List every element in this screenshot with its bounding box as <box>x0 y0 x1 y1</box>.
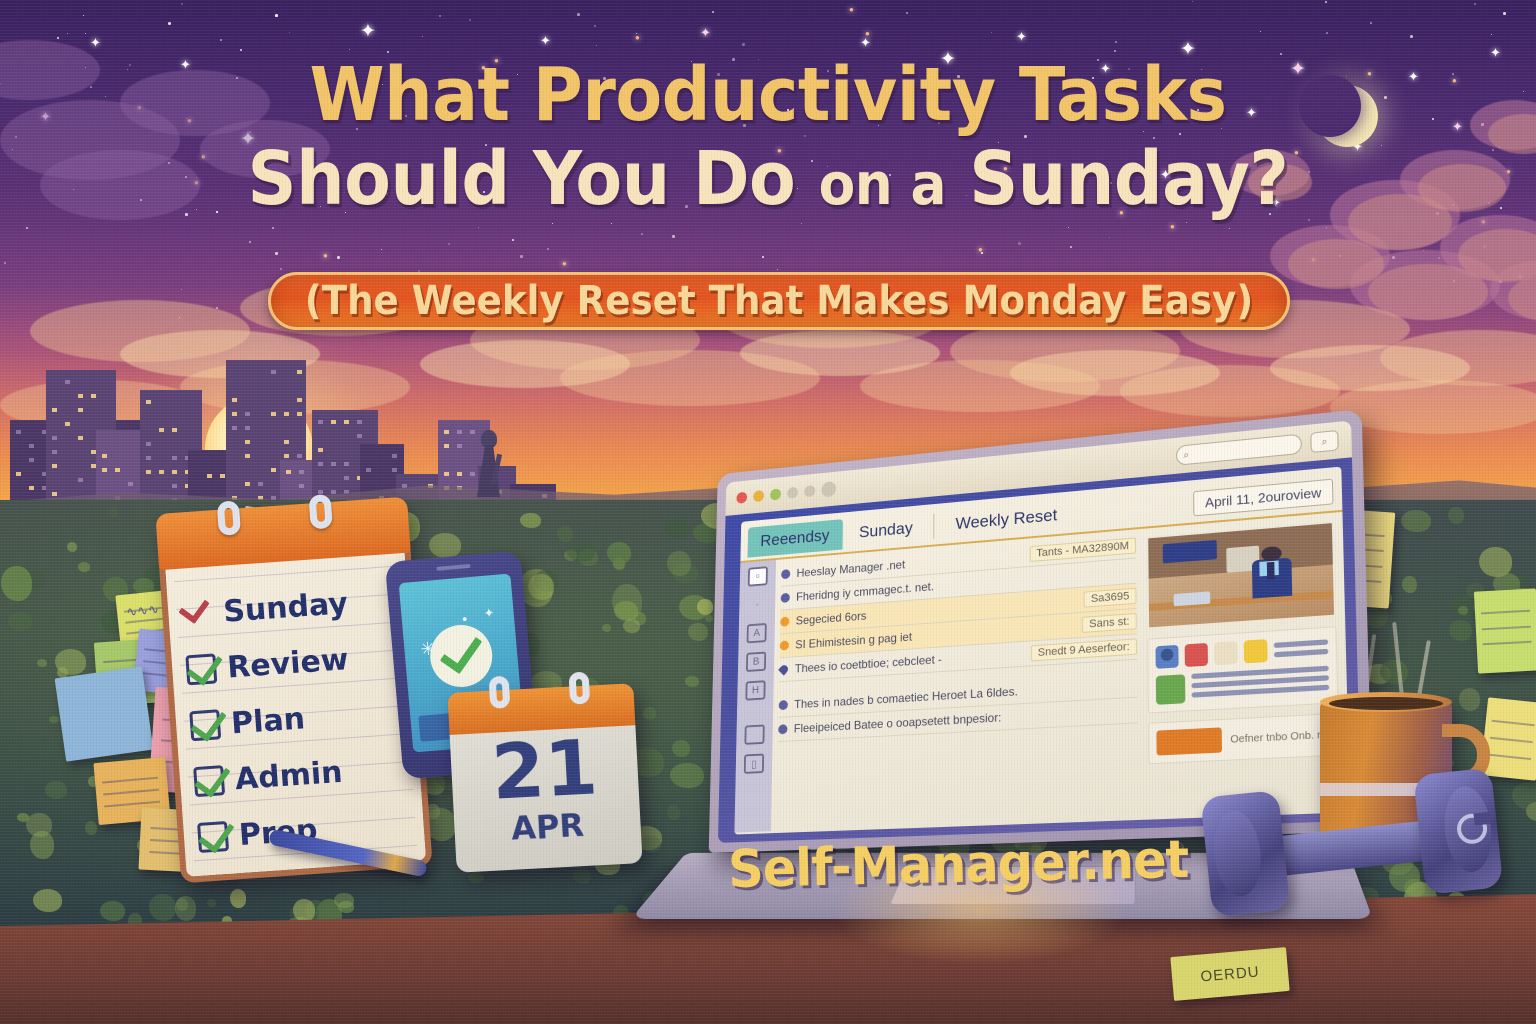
sidebar-icon-a[interactable]: A <box>747 623 767 643</box>
cloud <box>1270 345 1470 391</box>
tab-0[interactable]: Reeendsy <box>748 519 843 557</box>
foliage-leaf <box>100 901 125 921</box>
detail-text-lines-1 <box>1274 639 1329 657</box>
window-light <box>457 472 462 476</box>
star <box>275 252 278 255</box>
star <box>83 15 84 16</box>
ember-dot: ● <box>635 34 640 42</box>
star <box>801 223 802 224</box>
tab-1[interactable]: Sunday <box>846 512 926 550</box>
sparkle-icon-2: ✦ <box>483 605 495 622</box>
window-light <box>220 474 225 478</box>
window-light <box>146 400 151 404</box>
swatch-red <box>1185 643 1208 667</box>
foliage-leaf <box>109 507 118 517</box>
star <box>280 268 282 270</box>
window-light <box>52 450 57 454</box>
title-line-2-part-c: Sunday? <box>969 136 1288 222</box>
window-light <box>207 474 212 478</box>
ember-dot: ● <box>562 260 567 268</box>
window-light <box>318 420 323 424</box>
star <box>1068 227 1069 228</box>
window-light <box>245 426 250 430</box>
foliage-leaf <box>1380 660 1408 684</box>
brand-wordmark: Self-Manager.net <box>728 830 1189 900</box>
window-light <box>284 412 289 416</box>
star <box>422 36 423 37</box>
foliage-leaf <box>607 542 631 564</box>
foliage-leaf <box>207 899 216 907</box>
foliage-leaf <box>85 821 97 835</box>
window-light <box>331 420 336 424</box>
star <box>552 223 553 224</box>
cta-caption: Oefner tnbo Onb. r r <box>1230 727 1327 748</box>
foliage-leaf <box>1 566 32 601</box>
foliage-leaf <box>468 872 484 883</box>
window-light <box>232 398 237 402</box>
window-light <box>258 482 263 486</box>
star <box>1491 34 1492 35</box>
star <box>1070 246 1072 248</box>
window-light <box>284 454 289 458</box>
foliage-leaf <box>175 896 196 921</box>
window-light <box>457 430 462 434</box>
window-light <box>331 462 336 466</box>
window-light <box>331 490 336 494</box>
window-light <box>146 470 151 474</box>
cta-panel: Oefner tnbo Onb. r r <box>1148 713 1340 764</box>
list-item-text: Heeslay Manager .net <box>796 558 905 580</box>
star-sparkle-icon: ✦ <box>90 36 101 49</box>
clipboard-ring-right <box>308 494 332 529</box>
window-light <box>297 454 302 458</box>
foliage-leaf <box>623 619 640 633</box>
checklist-item-label: Admin <box>234 754 344 796</box>
window-light <box>366 468 371 472</box>
ember-dot: ● <box>865 30 870 38</box>
window-light <box>65 380 70 384</box>
window-light <box>78 408 83 412</box>
star <box>547 248 549 250</box>
star <box>762 256 764 258</box>
window-light <box>159 470 164 474</box>
thumb-person-tie <box>1267 561 1275 580</box>
window-light <box>29 444 34 448</box>
window-light <box>286 470 291 474</box>
star <box>1115 41 1117 43</box>
star <box>1186 222 1187 223</box>
window-light <box>29 486 34 490</box>
subtitle-text: (The Weekly Reset That Makes Monday Easy… <box>305 278 1254 324</box>
list-item-tag: Sans st: <box>1082 613 1137 633</box>
star <box>1325 1 1327 3</box>
window-light <box>457 444 462 448</box>
star <box>777 269 778 270</box>
window-light <box>52 408 57 412</box>
window-light <box>172 428 177 432</box>
extra-dot-1 <box>787 487 798 499</box>
star <box>596 45 597 46</box>
detail-card <box>1147 626 1338 713</box>
foliage-leaf <box>1449 620 1472 641</box>
star <box>4 262 6 264</box>
search-icon: ⌕ <box>1183 449 1189 461</box>
cloud <box>1288 239 1384 289</box>
star <box>577 13 580 16</box>
window-light <box>102 468 107 472</box>
star <box>381 249 382 250</box>
swatch-yellow <box>1244 639 1268 663</box>
star <box>1229 228 1230 229</box>
calendar-ring-left <box>489 676 511 709</box>
bullet-icon <box>779 700 788 710</box>
cta-button[interactable] <box>1156 727 1222 755</box>
calendar-ring-right <box>569 672 591 705</box>
window-light <box>245 482 250 486</box>
extra-dot-2 <box>804 485 815 497</box>
window-light <box>357 420 362 424</box>
omnibox-group: ⌕ ⌕ <box>1176 430 1339 466</box>
star <box>439 15 441 17</box>
foliage-leaf <box>1458 606 1468 615</box>
star <box>906 12 908 14</box>
window-light <box>392 468 397 472</box>
window-light <box>16 430 21 434</box>
foliage-leaf <box>293 899 315 922</box>
foliage-leaf <box>567 542 595 562</box>
window-light <box>299 484 304 488</box>
sidebar-icon-page[interactable]: ▯ <box>744 754 764 774</box>
window-light <box>318 462 323 466</box>
star <box>672 235 675 238</box>
title-line-1: What Productivity Tasks <box>61 58 1474 132</box>
checklist-item-label: Sunday <box>222 586 349 630</box>
foliage-leaf <box>67 542 77 552</box>
title-line-2: Should You Do on a Sunday? <box>61 142 1474 216</box>
close-window-button[interactable] <box>736 492 747 504</box>
star <box>1410 35 1413 38</box>
subtitle-banner: (The Weekly Reset That Makes Monday Easy… <box>268 272 1290 330</box>
foliage-leaf <box>1401 510 1431 532</box>
preview-thumbnail[interactable] <box>1146 521 1336 630</box>
window-light <box>115 468 120 472</box>
star <box>168 22 171 25</box>
window-light <box>357 434 362 438</box>
window-light <box>271 370 276 374</box>
star-sparkle-icon: ✦ <box>1016 30 1027 43</box>
sticky-note <box>55 666 154 761</box>
list-item-text: Thees io coetbtioe; cebcleet - <box>795 652 942 675</box>
star <box>1474 3 1476 5</box>
foliage-leaf <box>573 868 591 884</box>
person-silhouette <box>468 430 508 510</box>
window-light <box>52 492 57 496</box>
phone-speaker <box>436 564 470 571</box>
sunday-checklist-clipboard: Sunday Review Plan Admin Prep <box>155 497 432 884</box>
checklist-item-label: Plan <box>230 701 306 741</box>
window-light <box>271 468 276 472</box>
foliage-leaf <box>520 513 541 528</box>
swatch-cream <box>1214 641 1238 665</box>
star <box>337 256 340 259</box>
window-light <box>52 436 57 440</box>
star <box>1370 22 1372 24</box>
star <box>1308 219 1310 221</box>
window-light <box>172 484 177 488</box>
foliage-leaf <box>149 894 176 921</box>
cloud <box>740 330 940 376</box>
text-line <box>1274 639 1328 648</box>
star <box>611 223 612 224</box>
foliage-leaf <box>1448 507 1464 524</box>
window-light <box>318 490 323 494</box>
tab-divider <box>933 514 934 539</box>
checklist-items: Sunday Review Plan Admin Prep <box>181 572 416 866</box>
window-light <box>245 440 250 444</box>
desk-calendar: 21 APR <box>447 683 642 872</box>
star <box>469 19 471 21</box>
task-complete-badge <box>428 623 495 690</box>
star <box>289 32 290 33</box>
poster-canvas: ✦✦✦✦✦✦✦✦✦✦✦✦✦✦✦✦✦✦✦✦●●●●●●●●●●●●●●●●●●●●… <box>0 0 1536 1024</box>
ember-dot: ● <box>1170 223 1175 231</box>
foliage-leaf <box>30 831 54 859</box>
star <box>249 241 251 243</box>
star <box>594 25 596 27</box>
window-light <box>146 456 151 460</box>
clipboard-ring-left <box>217 500 241 535</box>
sidebar-icon-dot[interactable]: · <box>747 595 767 615</box>
star <box>520 255 523 258</box>
coffee-surface <box>1329 697 1443 710</box>
checkmark-icon <box>440 628 483 675</box>
swatch-green <box>1156 674 1186 705</box>
detail-card-row-2 <box>1156 666 1330 705</box>
title-line-2-part-b: on a <box>819 150 946 218</box>
list-item-tag: Snedt 9 Aeserfeor: <box>1031 638 1137 661</box>
window-light <box>299 470 304 474</box>
foliage-leaf <box>602 624 611 632</box>
foliage-leaf <box>78 562 90 572</box>
dumbbell <box>1197 739 1514 949</box>
star <box>991 32 992 33</box>
star <box>272 227 274 229</box>
app-sidebar: ▫ · A B H ▯ <box>734 560 776 833</box>
window-light <box>232 412 237 416</box>
window-light <box>29 458 34 462</box>
checkbox-green-icon[interactable] <box>185 653 217 685</box>
sparkle-icon-3: ● <box>462 613 468 623</box>
cloud <box>1010 350 1220 396</box>
window-light <box>245 454 250 458</box>
window-light <box>444 430 449 434</box>
window-light <box>271 412 276 416</box>
detail-card-row-1 <box>1156 635 1329 669</box>
star <box>742 43 745 46</box>
window-light <box>78 436 83 440</box>
detail-text-lines-2 <box>1191 666 1329 698</box>
foliage-leaf <box>55 649 86 675</box>
foliage-leaf <box>528 574 554 600</box>
minimize-window-button[interactable] <box>753 490 764 502</box>
window-light <box>392 454 397 458</box>
foliage-leaf <box>17 813 29 822</box>
window-light <box>172 470 177 474</box>
foliage-leaf <box>643 707 656 720</box>
window-light <box>159 428 164 432</box>
window-light <box>78 394 83 398</box>
bullet-icon <box>780 640 789 650</box>
foliage-leaf <box>37 659 47 667</box>
star <box>57 37 59 39</box>
star <box>478 227 479 228</box>
star <box>712 11 714 13</box>
star <box>448 243 450 245</box>
maximize-window-button[interactable] <box>770 488 781 500</box>
result-list-primary: Heeslay Manager .net Tants - MA32890M Fh… <box>779 533 1137 682</box>
foliage-leaf <box>334 893 354 908</box>
foliage-leaf <box>640 836 661 852</box>
search-input[interactable]: ⌕ <box>1176 434 1302 466</box>
checkbox-green-icon[interactable] <box>189 709 221 741</box>
checkbox-green-icon[interactable] <box>193 765 225 797</box>
foliage-leaf <box>49 716 59 723</box>
window-light <box>318 448 323 452</box>
result-list: Heeslay Manager .net Tants - MA32890M Fh… <box>771 529 1145 831</box>
title-line-2-part-a: Should You Do <box>248 136 796 222</box>
sidebar-icon-b[interactable]: B <box>746 652 766 672</box>
window-light <box>65 422 70 426</box>
text-line <box>1274 649 1328 658</box>
extra-dot-3 <box>821 481 836 497</box>
star <box>181 289 182 290</box>
foliage-leaf <box>8 612 32 631</box>
star <box>349 49 350 50</box>
star <box>512 239 514 241</box>
list-item-text: SI Ehimistesin g pag iet <box>795 630 912 652</box>
sticky-note-desk-text: OERDU <box>1200 963 1260 985</box>
star <box>1109 237 1110 238</box>
window-light <box>16 472 21 476</box>
ember-dot: ● <box>849 6 854 14</box>
foliage-leaf <box>1402 576 1417 593</box>
foliage-leaf <box>45 781 67 799</box>
star <box>240 49 242 51</box>
window-light <box>402 484 407 488</box>
foliage-leaf <box>230 889 246 908</box>
window-light <box>128 482 133 486</box>
star <box>1280 53 1282 55</box>
window-light <box>91 394 96 398</box>
star <box>85 33 86 34</box>
window-light <box>444 444 449 448</box>
window-light <box>102 454 107 458</box>
calendar-day: 21 <box>450 727 640 813</box>
window-light <box>297 412 302 416</box>
star-sparkle-icon: ✦ <box>700 26 711 39</box>
star <box>67 33 68 34</box>
window-light <box>344 462 349 466</box>
star <box>275 14 278 17</box>
window-light <box>52 464 57 468</box>
bullet-icon <box>781 593 790 603</box>
foliage-leaf <box>1512 782 1536 810</box>
tab-2[interactable]: Weekly Reset <box>942 498 1071 541</box>
star-sparkle-icon: ✦ <box>540 34 551 47</box>
window-light <box>444 472 449 476</box>
window-light <box>284 440 289 444</box>
star-sparkle-icon: ✦ <box>360 22 376 41</box>
ember-dot: ● <box>323 252 328 260</box>
sidebar-icon-save[interactable]: H <box>745 680 765 700</box>
window-light <box>172 456 177 460</box>
window-light <box>78 478 83 482</box>
sidebar-icon-blank[interactable] <box>744 724 764 744</box>
star <box>1326 32 1328 34</box>
star <box>220 39 222 41</box>
checkbox-red-icon[interactable] <box>181 598 213 630</box>
poster-title: What Productivity Tasks Should You Do on… <box>0 58 1536 216</box>
search-button[interactable]: ⌕ <box>1310 430 1339 453</box>
list-item-tag: Tants - MA32890M <box>1030 537 1137 562</box>
star <box>1018 242 1021 245</box>
window-light <box>344 476 349 480</box>
list-item-text: Segecied 6ors <box>796 609 867 628</box>
bullet-icon <box>778 724 787 734</box>
foliage-leaf <box>557 526 573 542</box>
bullet-icon <box>780 617 789 627</box>
star <box>1192 1 1193 2</box>
star <box>1260 31 1261 32</box>
avatar <box>1156 645 1179 669</box>
foliage-leaf <box>1459 688 1480 711</box>
checkbox-green-icon[interactable] <box>197 821 229 853</box>
star <box>26 227 28 229</box>
window-light <box>297 398 302 402</box>
window-light <box>146 442 151 446</box>
date-field[interactable]: April 11, 2ouroview <box>1193 478 1333 516</box>
ember-dot: ● <box>978 246 983 254</box>
foliage-leaf <box>612 584 642 620</box>
window-light <box>232 426 237 430</box>
checklist-item-label: Review <box>226 642 350 685</box>
window-light <box>245 412 250 416</box>
bullet-icon <box>781 569 790 579</box>
star <box>181 3 183 5</box>
star <box>1503 12 1506 15</box>
window-light <box>344 420 349 424</box>
sticky-note-right-mid <box>1474 588 1536 673</box>
window-light <box>297 370 302 374</box>
sidebar-icon-square[interactable]: ▫ <box>748 566 768 586</box>
star <box>641 233 643 235</box>
list-item-tag: Sa3695 <box>1084 588 1137 608</box>
foliage-leaf <box>429 533 461 558</box>
sticky-scribble: ∿∿∿ <box>126 601 160 620</box>
bullet-icon <box>778 663 790 675</box>
foliage-leaf <box>33 889 62 912</box>
